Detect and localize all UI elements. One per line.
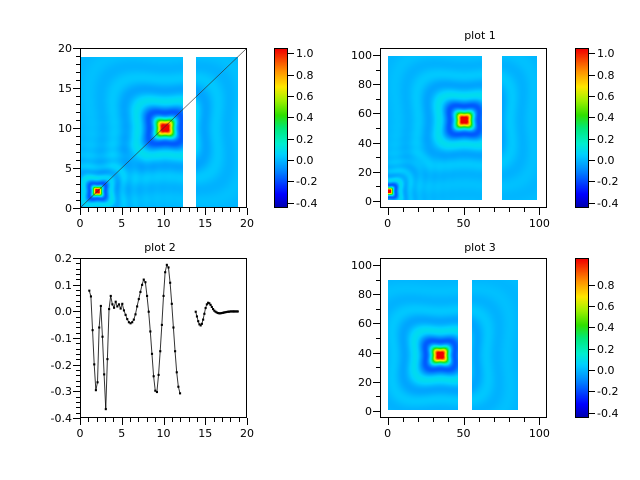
- minor-tick-x: [239, 208, 240, 212]
- x-tick-label: 0: [368, 218, 408, 229]
- minor-tick-y: [76, 72, 80, 73]
- minor-tick-x: [524, 208, 525, 212]
- major-tick-x: [80, 208, 81, 215]
- major-tick-y: [373, 323, 380, 324]
- colorbar-tick: [288, 160, 294, 161]
- major-tick-y: [73, 365, 80, 366]
- major-tick-y: [373, 172, 380, 173]
- minor-tick-y: [76, 279, 80, 280]
- minor-tick-x: [130, 208, 131, 212]
- y-tick-label: 100: [330, 260, 372, 271]
- minor-tick-x: [155, 418, 156, 422]
- y-tick-label: 15: [30, 83, 72, 94]
- colorbar-tick: [288, 117, 294, 118]
- colorbar-tick-label: 1.0: [296, 48, 314, 59]
- minor-tick-y: [376, 70, 380, 71]
- major-tick-y: [73, 168, 80, 169]
- minor-tick-y: [76, 370, 80, 371]
- y-tick-label: 20: [330, 167, 372, 178]
- colorbar-tick-label: -0.2: [597, 386, 618, 397]
- minor-tick-x: [403, 208, 404, 212]
- minor-tick-x: [479, 418, 480, 422]
- major-tick-y: [73, 208, 80, 209]
- minor-tick-x: [172, 418, 173, 422]
- minor-tick-y: [376, 99, 380, 100]
- minor-tick-x: [105, 208, 106, 212]
- minor-tick-x: [189, 418, 190, 422]
- colorbar-tick: [589, 285, 595, 286]
- minor-tick-y: [76, 402, 80, 403]
- figure-canvas: 0510152005101520 1.00.80.60.40.20.0-0.2-…: [0, 0, 640, 480]
- colorbar-bottom-right: [575, 258, 589, 418]
- colorbar-tick: [589, 306, 595, 307]
- colorbar-tick-label: 0.0: [597, 365, 615, 376]
- major-tick-x: [247, 208, 248, 215]
- minor-tick-y: [76, 269, 80, 270]
- x-tick-label: 100: [519, 428, 559, 439]
- minor-tick-y: [76, 56, 80, 57]
- major-tick-y: [373, 84, 380, 85]
- minor-tick-x: [138, 418, 139, 422]
- major-tick-y: [73, 88, 80, 89]
- axes-bottom-left[interactable]: [80, 258, 247, 418]
- colorbar-tick: [288, 75, 294, 76]
- minor-tick-x: [448, 208, 449, 212]
- minor-tick-y: [76, 104, 80, 105]
- x-tick-label: 15: [185, 218, 225, 229]
- minor-tick-y: [376, 309, 380, 310]
- colorbar-tick-label: 0.4: [597, 322, 615, 333]
- major-tick-x: [80, 418, 81, 425]
- minor-tick-x: [189, 208, 190, 212]
- major-tick-y: [373, 265, 380, 266]
- panel-bottom-right: plot 3 050100020406080100 0.80.60.40.20.…: [320, 240, 640, 480]
- major-tick-x: [539, 418, 540, 425]
- colorbar-tick: [288, 203, 294, 204]
- minor-tick-y: [376, 280, 380, 281]
- colorbar-tick: [589, 413, 595, 414]
- minor-tick-y: [76, 184, 80, 185]
- colorbar-tick: [288, 181, 294, 182]
- minor-tick-y: [376, 396, 380, 397]
- minor-tick-y: [76, 343, 80, 344]
- major-tick-y: [73, 418, 80, 419]
- minor-tick-x: [230, 418, 231, 422]
- heatmap-image-bottom-right: [381, 259, 546, 417]
- minor-tick-x: [403, 418, 404, 422]
- y-tick-label: -0.4: [30, 413, 72, 424]
- y-tick-label: 60: [330, 108, 372, 119]
- minor-tick-x: [155, 208, 156, 212]
- major-tick-y: [73, 128, 80, 129]
- colorbar-top-right: [575, 48, 589, 208]
- minor-tick-y: [76, 375, 80, 376]
- minor-tick-y: [76, 397, 80, 398]
- x-tick-label: 5: [102, 218, 142, 229]
- minor-tick-x: [418, 418, 419, 422]
- major-tick-y: [373, 382, 380, 383]
- colorbar-tick-label: 0.8: [597, 70, 615, 81]
- minor-tick-y: [76, 301, 80, 302]
- colorbar-tick-label: 0.6: [597, 301, 615, 312]
- y-tick-label: 0.2: [30, 253, 72, 264]
- major-tick-x: [388, 208, 389, 215]
- major-tick-y: [73, 258, 80, 259]
- minor-tick-y: [76, 136, 80, 137]
- colorbar-tick: [589, 139, 595, 140]
- y-tick-label: 20: [30, 43, 72, 54]
- minor-tick-x: [197, 208, 198, 212]
- y-tick-label: 40: [330, 138, 372, 149]
- minor-tick-y: [76, 386, 80, 387]
- major-tick-x: [164, 418, 165, 425]
- colorbar-tick-label: 0.2: [296, 134, 314, 145]
- x-tick-label: 20: [227, 218, 267, 229]
- y-tick-label: 20: [330, 377, 372, 388]
- major-tick-x: [464, 208, 465, 215]
- minor-tick-y: [76, 349, 80, 350]
- colorbar-tick: [288, 139, 294, 140]
- major-tick-y: [373, 294, 380, 295]
- minor-tick-y: [76, 176, 80, 177]
- colorbar-tick: [589, 203, 595, 204]
- minor-tick-x: [88, 418, 89, 422]
- major-tick-y: [373, 55, 380, 56]
- minor-tick-y: [76, 359, 80, 360]
- panel-top-right: plot 1 050100020406080100 1.00.80.60.40.…: [320, 0, 640, 240]
- x-tick-label: 0: [368, 428, 408, 439]
- minor-tick-x: [509, 418, 510, 422]
- minor-tick-x: [97, 418, 98, 422]
- colorbar-tick-label: 1.0: [597, 48, 615, 59]
- minor-tick-x: [97, 208, 98, 212]
- minor-tick-x: [222, 208, 223, 212]
- y-tick-label: 5: [30, 163, 72, 174]
- minor-tick-x: [113, 418, 114, 422]
- major-tick-y: [373, 143, 380, 144]
- minor-tick-y: [76, 200, 80, 201]
- colorbar-tick: [589, 327, 595, 328]
- minor-tick-x: [197, 418, 198, 422]
- minor-tick-y: [76, 354, 80, 355]
- y-tick-label: 80: [330, 289, 372, 300]
- colorbar-tick: [288, 96, 294, 97]
- minor-tick-x: [448, 418, 449, 422]
- y-tick-label: 0.0: [30, 306, 72, 317]
- x-tick-label: 20: [227, 428, 267, 439]
- x-tick-label: 100: [519, 218, 559, 229]
- major-tick-x: [122, 418, 123, 425]
- minor-tick-y: [76, 381, 80, 382]
- y-tick-label: 100: [330, 50, 372, 61]
- axes-top-left[interactable]: [80, 48, 247, 208]
- major-tick-x: [464, 418, 465, 425]
- colorbar-gradient-top-right: [576, 49, 588, 207]
- minor-tick-x: [433, 418, 434, 422]
- minor-tick-y: [376, 128, 380, 129]
- major-tick-y: [373, 411, 380, 412]
- colorbar-tick: [589, 391, 595, 392]
- panel-bottom-left: plot 2 051015200.20.10.0-0.1-0.2-0.3-0.4: [0, 240, 320, 480]
- major-tick-x: [388, 418, 389, 425]
- minor-tick-y: [376, 367, 380, 368]
- colorbar-tick: [589, 181, 595, 182]
- major-tick-x: [247, 418, 248, 425]
- panel-top-left: 0510152005101520 1.00.80.60.40.20.0-0.2-…: [0, 0, 320, 240]
- y-tick-label: 40: [330, 348, 372, 359]
- colorbar-tick-label: 0.4: [296, 112, 314, 123]
- colorbar-tick-label: -0.4: [597, 408, 618, 419]
- colorbar-tick-label: 0.6: [597, 91, 615, 102]
- colorbar-tick-label: -0.2: [597, 176, 618, 187]
- major-tick-y: [73, 311, 80, 312]
- minor-tick-x: [230, 208, 231, 212]
- minor-tick-y: [376, 157, 380, 158]
- minor-tick-x: [222, 418, 223, 422]
- colorbar-tick: [589, 53, 595, 54]
- heatmap-image-top-left: [81, 49, 246, 207]
- minor-tick-y: [76, 96, 80, 97]
- line-series-bottom-left: [81, 259, 246, 417]
- major-tick-y: [73, 338, 80, 339]
- minor-tick-y: [76, 152, 80, 153]
- minor-tick-y: [76, 306, 80, 307]
- minor-tick-y: [76, 64, 80, 65]
- x-tick-label: 0: [60, 428, 100, 439]
- minor-tick-y: [76, 322, 80, 323]
- minor-tick-y: [376, 338, 380, 339]
- y-tick-label: 0: [330, 196, 372, 207]
- colorbar-tick: [589, 117, 595, 118]
- colorbar-tick: [589, 370, 595, 371]
- minor-tick-y: [76, 407, 80, 408]
- minor-tick-x: [509, 208, 510, 212]
- minor-tick-x: [479, 208, 480, 212]
- colorbar-top-left: [274, 48, 288, 208]
- axes-top-right[interactable]: [380, 48, 547, 208]
- minor-tick-x: [494, 418, 495, 422]
- y-tick-label: 0: [330, 406, 372, 417]
- minor-tick-y: [76, 274, 80, 275]
- major-tick-y: [73, 48, 80, 49]
- colorbar-tick-label: 0.2: [597, 134, 615, 145]
- minor-tick-x: [130, 418, 131, 422]
- colorbar-tick-label: -0.4: [597, 198, 618, 209]
- panel-title-top-right: plot 1: [320, 30, 640, 42]
- colorbar-tick-label: 0.8: [597, 280, 615, 291]
- minor-tick-y: [76, 317, 80, 318]
- minor-tick-x: [433, 208, 434, 212]
- major-tick-x: [164, 208, 165, 215]
- y-tick-label: 80: [330, 79, 372, 90]
- minor-tick-x: [88, 208, 89, 212]
- major-tick-y: [73, 391, 80, 392]
- minor-tick-y: [76, 144, 80, 145]
- minor-tick-y: [76, 263, 80, 264]
- x-tick-label: 50: [444, 428, 484, 439]
- x-tick-label: 0: [60, 218, 100, 229]
- axes-bottom-right[interactable]: [380, 258, 547, 418]
- y-tick-label: -0.3: [30, 386, 72, 397]
- colorbar-tick-label: 0.4: [597, 112, 615, 123]
- colorbar-tick: [589, 160, 595, 161]
- colorbar-gradient-bottom-right: [576, 259, 588, 417]
- major-tick-x: [205, 208, 206, 215]
- y-tick-label: -0.2: [30, 360, 72, 371]
- minor-tick-x: [138, 208, 139, 212]
- y-tick-label: 0: [30, 203, 72, 214]
- minor-tick-x: [214, 208, 215, 212]
- x-tick-label: 5: [102, 428, 142, 439]
- minor-tick-y: [376, 186, 380, 187]
- minor-tick-x: [418, 208, 419, 212]
- minor-tick-y: [76, 295, 80, 296]
- minor-tick-y: [76, 333, 80, 334]
- minor-tick-y: [76, 112, 80, 113]
- minor-tick-y: [76, 192, 80, 193]
- colorbar-tick-label: 0.0: [597, 155, 615, 166]
- colorbar-tick: [589, 349, 595, 350]
- colorbar-tick-label: -0.2: [296, 176, 317, 187]
- minor-tick-x: [172, 208, 173, 212]
- minor-tick-y: [76, 120, 80, 121]
- colorbar-tick-label: 0.0: [296, 155, 314, 166]
- minor-tick-x: [147, 418, 148, 422]
- minor-tick-x: [180, 418, 181, 422]
- minor-tick-y: [76, 80, 80, 81]
- minor-tick-x: [524, 418, 525, 422]
- major-tick-y: [73, 285, 80, 286]
- y-tick-label: 0.1: [30, 280, 72, 291]
- colorbar-tick-label: 0.8: [296, 70, 314, 81]
- colorbar-tick: [589, 96, 595, 97]
- minor-tick-x: [113, 208, 114, 212]
- colorbar-tick-label: 0.6: [296, 91, 314, 102]
- minor-tick-x: [147, 208, 148, 212]
- colorbar-tick-label: 0.2: [597, 344, 615, 355]
- x-tick-label: 50: [444, 218, 484, 229]
- major-tick-x: [539, 208, 540, 215]
- minor-tick-x: [180, 208, 181, 212]
- minor-tick-y: [76, 290, 80, 291]
- heatmap-image-top-right: [381, 49, 546, 207]
- colorbar-tick-label: -0.4: [296, 198, 317, 209]
- minor-tick-y: [76, 413, 80, 414]
- major-tick-x: [122, 208, 123, 215]
- y-tick-label: -0.1: [30, 333, 72, 344]
- colorbar-tick: [589, 75, 595, 76]
- major-tick-y: [373, 113, 380, 114]
- colorbar-gradient-top-left: [275, 49, 287, 207]
- minor-tick-x: [214, 418, 215, 422]
- x-tick-label: 15: [185, 428, 225, 439]
- colorbar-tick: [288, 53, 294, 54]
- minor-tick-y: [76, 160, 80, 161]
- major-tick-y: [373, 353, 380, 354]
- major-tick-x: [205, 418, 206, 425]
- minor-tick-x: [105, 418, 106, 422]
- y-tick-label: 60: [330, 318, 372, 329]
- minor-tick-y: [76, 327, 80, 328]
- minor-tick-x: [239, 418, 240, 422]
- minor-tick-x: [494, 208, 495, 212]
- major-tick-y: [373, 201, 380, 202]
- x-tick-label: 10: [144, 218, 184, 229]
- y-tick-label: 10: [30, 123, 72, 134]
- panel-title-bottom-right: plot 3: [320, 242, 640, 254]
- x-tick-label: 10: [144, 428, 184, 439]
